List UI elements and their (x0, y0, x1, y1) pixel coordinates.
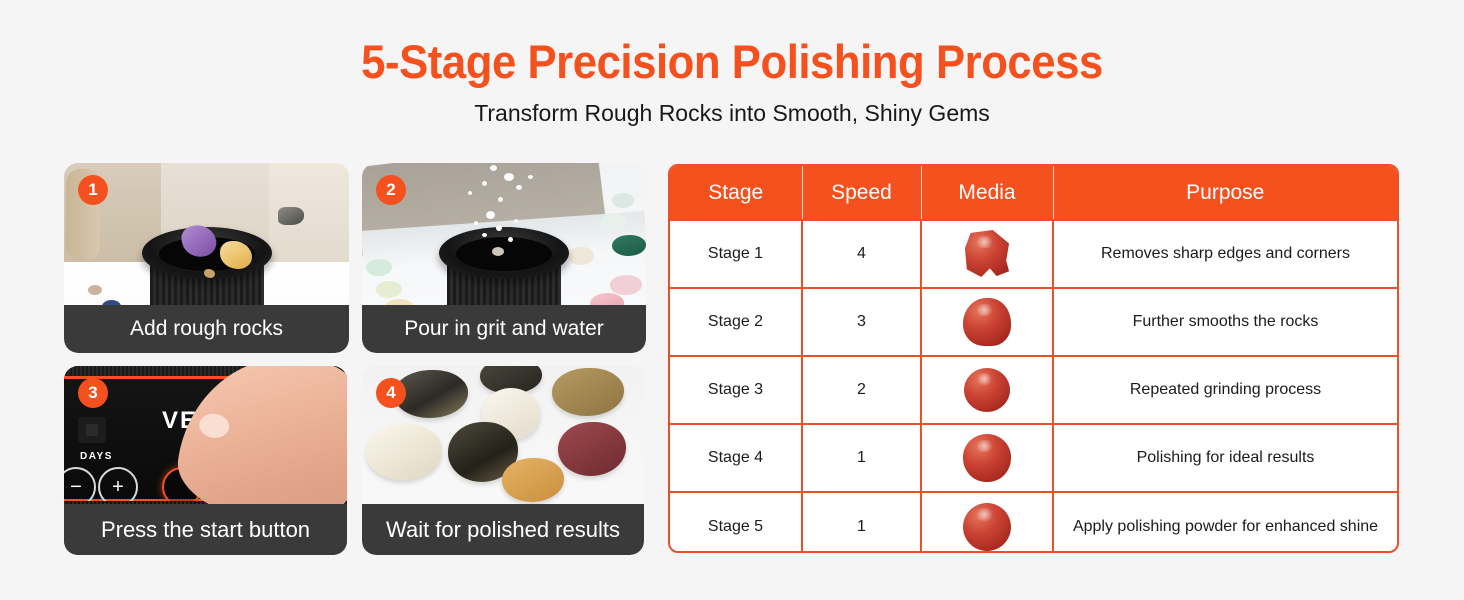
infographic-page: 5-Stage Precision Polishing Process Tran… (0, 0, 1464, 600)
cell-stage: Stage 4 (670, 424, 802, 492)
step-badge-1: 1 (78, 175, 108, 205)
polished-stone-icon (963, 434, 1011, 482)
grit-particle (486, 211, 495, 219)
grit-particle (498, 197, 503, 202)
grit-particle (508, 237, 513, 242)
lcd-display (78, 417, 106, 443)
cell-media (921, 220, 1053, 288)
grit-particle (468, 191, 472, 195)
step-caption-1: Add rough rocks (64, 305, 349, 353)
grit-particle (496, 225, 502, 231)
rounded-stone-icon (963, 366, 1011, 414)
cell-purpose: Apply polishing powder for enhanced shin… (1053, 492, 1397, 553)
cell-stage: Stage 3 (670, 356, 802, 424)
step-caption-2: Pour in grit and water (362, 305, 646, 353)
step-badge-2: 2 (376, 175, 406, 205)
cell-media (921, 288, 1053, 356)
table-pebble (88, 285, 102, 295)
cell-stage: Stage 5 (670, 492, 802, 553)
page-title: 5-Stage Precision Polishing Process (51, 33, 1413, 91)
table-row: Stage 5 1 Apply polishing powder for enh… (670, 492, 1397, 553)
table-row: Stage 4 1 Polishing for ideal results (670, 424, 1397, 492)
step-cards-grid: 1 Add rough rocks (64, 163, 654, 555)
step-badge-3: 3 (78, 378, 108, 408)
grit-particle (504, 173, 514, 181)
glossy-stone-icon (963, 503, 1011, 551)
column-header-speed: Speed (802, 166, 921, 220)
step-card-3[interactable]: DAYS VEVOR − + ▶❙❙ 3 Press the start but… (64, 366, 347, 555)
grit-particle (482, 181, 487, 186)
step-card-2[interactable]: 2 Pour in grit and water (362, 163, 646, 353)
cell-purpose: Repeated grinding process (1053, 356, 1397, 424)
column-header-purpose: Purpose (1053, 166, 1397, 220)
table-row: Stage 1 4 Removes sharp edges and corner… (670, 220, 1397, 288)
step-card-4[interactable]: 4 Wait for polished results (362, 366, 644, 555)
cell-media (921, 424, 1053, 492)
cell-purpose: Removes sharp edges and corners (1053, 220, 1397, 288)
cell-speed: 1 (802, 492, 921, 553)
column-header-stage: Stage (670, 166, 802, 220)
table-row: Stage 2 3 Further smooths the rocks (670, 288, 1397, 356)
grit-particle (490, 165, 497, 171)
cell-speed: 1 (802, 424, 921, 492)
barrel-opening (456, 237, 552, 271)
cell-speed: 2 (802, 356, 921, 424)
grit-particle (474, 221, 478, 225)
cell-purpose: Further smooths the rocks (1053, 288, 1397, 356)
step-caption-4: Wait for polished results (362, 504, 644, 555)
cell-speed: 3 (802, 288, 921, 356)
grit-particle (514, 219, 518, 223)
table-header-row: Stage Speed Media Purpose (670, 166, 1397, 220)
column-header-media: Media (921, 166, 1053, 220)
table-row: Stage 3 2 Repeated grinding process (670, 356, 1397, 424)
cell-stage: Stage 1 (670, 220, 802, 288)
cell-speed: 4 (802, 220, 921, 288)
grit-particle (528, 175, 533, 179)
smoothed-stone-icon (963, 298, 1011, 346)
step-card-1[interactable]: 1 Add rough rocks (64, 163, 349, 353)
days-label: DAYS (80, 451, 113, 462)
gray-rock (278, 207, 304, 225)
grit-particle (516, 185, 522, 190)
rough-stone-icon (963, 230, 1011, 278)
small-rock (204, 269, 215, 278)
grit-particle (492, 247, 504, 256)
cell-purpose: Polishing for ideal results (1053, 424, 1397, 492)
step-badge-4: 4 (376, 378, 406, 408)
cell-media (921, 492, 1053, 553)
cell-media (921, 356, 1053, 424)
cell-stage: Stage 2 (670, 288, 802, 356)
page-subtitle: Transform Rough Rocks into Smooth, Shiny… (0, 98, 1464, 128)
grit-particle (482, 233, 487, 237)
step-caption-3: Press the start button (64, 504, 347, 555)
stage-table: Stage Speed Media Purpose Stage 1 4 Remo… (668, 164, 1399, 553)
